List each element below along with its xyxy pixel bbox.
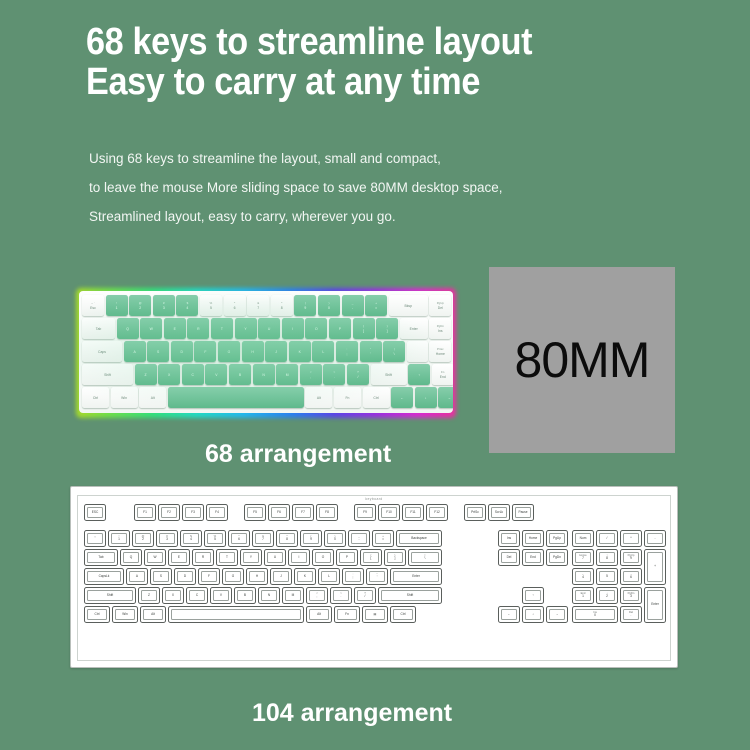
key-bksp[interactable]: Bksp [389,295,428,316]
key-f9[interactable]: F9 [354,504,376,521]
key-c[interactable]: C [186,587,208,604]
key-scrlk[interactable]: ScrLk [488,504,510,521]
key-7[interactable]: &7 [252,530,274,547]
key--[interactable]: / [596,530,618,547]
key-9[interactable]: PgUp9 [620,549,642,566]
key-q[interactable]: Q [117,318,139,339]
key-del[interactable]: Del [498,549,520,566]
key--[interactable]: + [644,549,666,585]
key-w[interactable]: W [140,318,162,339]
key--[interactable]: ← [391,387,413,408]
key-ctrl[interactable]: Ctrl [363,387,390,408]
key-fn[interactable]: Fn [334,606,360,623]
key-u[interactable]: U [258,318,280,339]
body-copy-line-3: Streamlined layout, easy to carry, where… [89,202,502,231]
key-l[interactable]: L [312,341,334,362]
key-f10[interactable]: F10 [378,504,400,521]
keyboard-104-row: ↑ [522,587,544,604]
key--[interactable]: ?/ [347,364,369,385]
key-f[interactable]: F [194,341,216,362]
key-r[interactable]: R [192,549,214,566]
keyboard-68-image: ~ `Esc!1@2#3$4%5^6&7*8(9)0_-+=BkspPgUpDe… [76,288,456,418]
key-5[interactable]: %5 [200,295,222,316]
key-q[interactable]: Q [120,549,142,566]
key-2[interactable]: @2 [129,295,151,316]
key--[interactable]: Del. [620,606,642,623]
key-home[interactable]: PrtscHome [429,341,451,362]
measurement-label: 80MM [515,331,650,389]
keyboard-104-row: TabQWERTYUIOP{[}]|\ [84,549,442,566]
key-f8[interactable]: F8 [316,504,338,521]
key-pgdn[interactable]: PgDn [546,549,568,566]
key-o[interactable]: O [305,318,327,339]
body-copy-line-1: Using 68 keys to streamline the layout, … [89,144,502,173]
key-win[interactable]: Win [111,387,138,408]
keyboard-104-body: keyboard ESCF1F2F3F4F5F6F7F8F9F10F11F12P… [77,495,671,661]
key-3[interactable]: #3 [153,295,175,316]
key-w[interactable]: W [144,549,166,566]
key-u[interactable]: U [264,549,286,566]
keyboard-104-row: + [644,549,666,585]
key-t[interactable]: T [216,549,238,566]
key-gap [450,504,462,521]
keyboard-brand-logo: keyboard [365,497,382,501]
keyboard-104-row: CapsLkASDFGHJKL:;"'Enter [84,568,442,585]
key--[interactable]: += [365,295,387,316]
key-p[interactable]: P [336,549,358,566]
key-r[interactable]: R [187,318,209,339]
keyboard-104-row: ←45→6 [572,568,642,585]
key--[interactable]: _- [342,295,364,316]
key--[interactable]: >. [323,364,345,385]
key-k[interactable]: K [294,568,316,585]
keyboard-68-row: TabQWERTYUIOP{[}]EnterPgDnIns [82,318,451,339]
key-ins[interactable]: Ins [498,530,520,547]
measurement-box: 80MM [489,267,675,453]
key-e[interactable]: E [168,549,190,566]
key-i[interactable]: I [282,318,304,339]
keyboard-104-row: Num/*- [572,530,666,547]
key-ctrl[interactable]: Ctrl [82,387,109,408]
key--[interactable]: _- [348,530,370,547]
key-home[interactable]: Home [522,530,544,547]
key-shift[interactable]: Shift [378,587,442,604]
key-1[interactable]: !1 [106,295,128,316]
key-v[interactable]: V [205,364,227,385]
keyboard-104-row: Ins0Del. [572,606,642,623]
key--[interactable]: |\ [383,341,405,362]
key-4[interactable]: ←4 [572,568,594,585]
keyboard-68-row: CtrlWinAltAltFnCtrl←↓→ [82,387,453,408]
key-caps[interactable]: Caps [82,341,122,362]
key-8[interactable]: *8 [276,530,298,547]
key--[interactable]: :; [336,341,358,362]
key-f5[interactable]: F5 [244,504,266,521]
key-alt[interactable]: Alt [305,387,332,408]
key-8[interactable]: ↑8 [596,549,618,566]
key--[interactable]: * [620,530,642,547]
key-6[interactable]: ^6 [228,530,250,547]
key-tab[interactable]: Tab [84,549,118,566]
key-d[interactable]: D [174,568,196,585]
key-0[interactable]: )0 [318,295,340,316]
key-f4[interactable]: F4 [206,504,228,521]
key-m[interactable]: M [282,587,304,604]
key-z[interactable]: Z [135,364,157,385]
body-copy: Using 68 keys to streamline the layout, … [89,144,502,231]
caption-68-arrangement: 68 arrangement [205,440,391,469]
key-gap [230,504,242,521]
key-ins[interactable]: PgDnIns [429,318,451,339]
key-e[interactable]: E [164,318,186,339]
key-fn[interactable]: Fn [334,387,361,408]
key-4[interactable]: $4 [180,530,202,547]
key-t[interactable]: T [211,318,233,339]
key-6[interactable]: ^6 [224,295,246,316]
key-a[interactable]: A [124,341,146,362]
key-enter[interactable]: Enter [400,318,428,339]
key-f11[interactable]: F11 [402,504,424,521]
key-g[interactable]: G [222,568,244,585]
key-3[interactable]: #3 [156,530,178,547]
key-end[interactable]: FnEnd [432,364,453,385]
key-j[interactable]: J [270,568,292,585]
key-capslk[interactable]: CapsLk [84,568,124,585]
key-7[interactable]: &7 [247,295,269,316]
key-n[interactable]: N [253,364,275,385]
keyboard-104-row: End1↓2PgDn3 [572,587,642,604]
key-ctrl[interactable]: Ctrl [84,606,110,623]
key-esc[interactable]: ESC [84,504,106,521]
key-c[interactable]: C [182,364,204,385]
key-tab[interactable]: Tab [82,318,115,339]
key-f6[interactable]: F6 [268,504,290,521]
key-5[interactable]: %5 [204,530,226,547]
key-4[interactable]: $4 [176,295,198,316]
keyboard-104-row: Home7↑8PgUp9 [572,549,642,566]
key-6[interactable]: →6 [620,568,642,585]
key--[interactable]: ↑ [522,587,544,604]
key--[interactable]: ← [498,606,520,623]
keyboard-104-row: DelEndPgDn [498,549,568,566]
key-win[interactable]: Win [112,606,138,623]
key--[interactable]: }] [384,549,406,566]
key-f[interactable]: F [198,568,220,585]
key--[interactable]: ↓ [415,387,437,408]
key-1[interactable]: !1 [108,530,130,547]
key-gap [108,504,132,521]
key-o[interactable]: O [312,549,334,566]
keyboard-104-row: ShiftZXCVBNM<,>.?/Shift [84,587,442,604]
key-1[interactable]: End1 [572,587,594,604]
key--[interactable]: "' [360,341,382,362]
key-alt[interactable]: Alt [139,387,166,408]
key--[interactable]: += [372,530,394,547]
key-space[interactable] [168,387,304,408]
keyboard-68-row: CapsASDFGHJKL:;"'|\PrtscHome [82,341,451,362]
keyboard-104-image: keyboard ESCF1F2F3F4F5F6F7F8F9F10F11F12P… [70,486,678,668]
keyboard-68-body: ~ `Esc!1@2#3$4%5^6&7*8(9)0_-+=BkspPgUpDe… [79,291,453,413]
key-shift[interactable]: Shift [371,364,407,385]
key-n[interactable]: N [258,587,280,604]
key--[interactable]: |\ [408,549,442,566]
key--[interactable]: - [644,530,666,547]
key-enter[interactable]: Enter [644,587,666,623]
key-pause[interactable]: Pause [512,504,534,521]
key-v[interactable]: V [210,587,232,604]
key-ctrl[interactable]: Ctrl [390,606,416,623]
keyboard-104-row: CtrlWinAltAltFn▤Ctrl [84,606,416,623]
key-f1[interactable]: F1 [134,504,156,521]
key-f12[interactable]: F12 [426,504,448,521]
key--[interactable]: :; [342,568,364,585]
key--[interactable]: >. [330,587,352,604]
key-2[interactable]: ↓2 [596,587,618,604]
key--[interactable]: ↑ [408,364,430,385]
headline-line-1: 68 keys to streamline layout [86,22,532,62]
key--[interactable]: {[ [353,318,375,339]
key-x[interactable]: X [162,587,184,604]
key-del[interactable]: PgUpDel [429,295,451,316]
body-copy-line-2: to leave the mouse More sliding space to… [89,173,502,202]
key-shift[interactable]: Shift [82,364,133,385]
key-b[interactable]: B [229,364,251,385]
key--[interactable]: <, [306,587,328,604]
key-0[interactable]: )0 [324,530,346,547]
key-2[interactable]: @2 [132,530,154,547]
key-5[interactable]: 5 [596,568,618,585]
key-p[interactable]: P [329,318,351,339]
keyboard-68-row: ~ `Esc!1@2#3$4%5^6&7*8(9)0_-+=BkspPgUpDe… [82,295,451,316]
key--[interactable]: → [546,606,568,623]
key-3[interactable]: PgDn3 [620,587,642,604]
key-0[interactable]: Ins0 [572,606,618,623]
keyboard-104-row: ←↓→ [498,606,568,623]
key-y[interactable]: Y [240,549,262,566]
keyboard-104-row: InsHomePgUp [498,530,568,547]
key--[interactable]: }] [376,318,398,339]
key-gap [340,504,352,521]
key--[interactable]: ?/ [354,587,376,604]
key-prtsc[interactable]: PrtSc [464,504,486,521]
caption-104-arrangement: 104 arrangement [252,699,452,728]
key--[interactable]: ~` [84,530,106,547]
key-f3[interactable]: F3 [182,504,204,521]
key-a[interactable]: A [126,568,148,585]
key--[interactable]: ↓ [522,606,544,623]
key-8[interactable]: *8 [271,295,293,316]
key-space[interactable] [407,341,428,362]
key-x[interactable]: X [158,364,180,385]
keyboard-104-row: ESCF1F2F3F4F5F6F7F8F9F10F11F12PrtScScrLk… [84,504,534,521]
key-k[interactable]: K [289,341,311,362]
key-esc[interactable]: ~ `Esc [82,295,104,316]
key-s[interactable]: S [147,341,169,362]
key-h[interactable]: H [246,568,268,585]
key-alt[interactable]: Alt [306,606,332,623]
key-7[interactable]: Home7 [572,549,594,566]
page-headline: 68 keys to streamline layout Easy to car… [86,22,532,102]
keyboard-68-row: ShiftZXCVBNM<,>.?/Shift↑FnEnd [82,364,453,385]
key-9[interactable]: (9 [300,530,322,547]
keyboard-104-row: Enter [644,587,666,623]
key--[interactable]: {[ [360,549,382,566]
key-shift[interactable]: Shift [84,587,136,604]
headline-line-2: Easy to carry at any time [86,62,532,102]
key-enter[interactable]: Enter [390,568,442,585]
key-backspace[interactable]: Backspace [396,530,442,547]
key-alt[interactable]: Alt [140,606,166,623]
key-space[interactable] [168,606,304,623]
key--[interactable]: "' [366,568,388,585]
key-s[interactable]: S [150,568,172,585]
key-j[interactable]: J [265,341,287,362]
key--[interactable]: ▤ [362,606,388,623]
key--[interactable]: <, [300,364,322,385]
key-num[interactable]: Num [572,530,594,547]
key-end[interactable]: End [522,549,544,566]
key-b[interactable]: B [234,587,256,604]
key-9[interactable]: (9 [294,295,316,316]
key--[interactable]: → [438,387,453,408]
key-pgup[interactable]: PgUp [546,530,568,547]
key-l[interactable]: L [318,568,340,585]
keyboard-104-row: ~`!1@2#3$4%5^6&7*8(9)0_-+=Backspace [84,530,442,547]
key-g[interactable]: G [218,341,240,362]
key-f2[interactable]: F2 [158,504,180,521]
key-y[interactable]: Y [235,318,257,339]
key-h[interactable]: H [242,341,264,362]
key-z[interactable]: Z [138,587,160,604]
key-m[interactable]: M [276,364,298,385]
key-i[interactable]: I [288,549,310,566]
key-f7[interactable]: F7 [292,504,314,521]
key-d[interactable]: D [171,341,193,362]
